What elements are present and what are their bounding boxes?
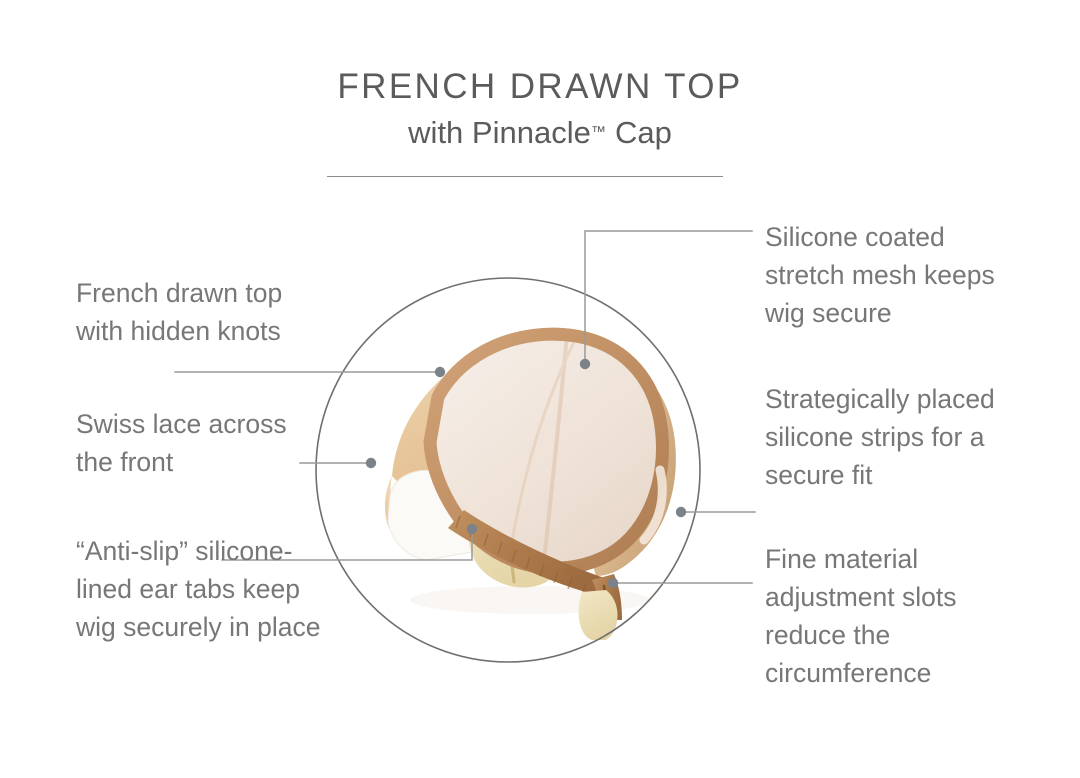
bottom-cream-tab [579, 590, 618, 640]
callout-swiss-lace: Swiss lace across the front [76, 405, 328, 481]
callout-adjustment-slots: Fine material adjustment slots reduce th… [765, 540, 1005, 692]
callout-french-drawn-top: French drawn top with hidden knots [76, 274, 328, 350]
wig-cap-illustration [330, 280, 710, 640]
subtitle-suffix: Cap [606, 115, 671, 150]
subtitle-prefix: with Pinnacle [408, 115, 591, 150]
callout-silicone-coated-mesh: Silicone coated stretch mesh keeps wig s… [765, 218, 1005, 332]
trademark-symbol: ™ [591, 124, 607, 141]
title-divider [327, 176, 723, 177]
page-subtitle: with Pinnacle™ Cap [0, 114, 1080, 151]
callout-anti-slip-ear-tabs: “Anti-slip” silicone-lined ear tabs keep… [76, 532, 338, 646]
wig-cap-svg [330, 280, 710, 640]
title-block: FRENCH DRAWN TOP with Pinnacle™ Cap [0, 66, 1080, 151]
infographic-page: FRENCH DRAWN TOP with Pinnacle™ Cap [0, 0, 1080, 778]
callout-silicone-strips: Strategically placed silicone strips for… [765, 380, 997, 494]
page-title: FRENCH DRAWN TOP [0, 66, 1080, 107]
